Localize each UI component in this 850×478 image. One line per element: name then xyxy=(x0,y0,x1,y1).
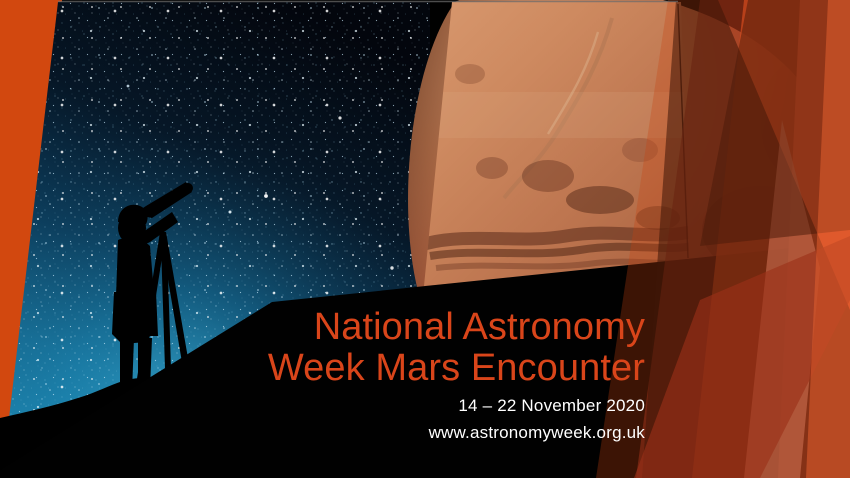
poster-artwork xyxy=(0,0,850,478)
poster-banner: National Astronomy Week Mars Encounter 1… xyxy=(0,0,850,478)
